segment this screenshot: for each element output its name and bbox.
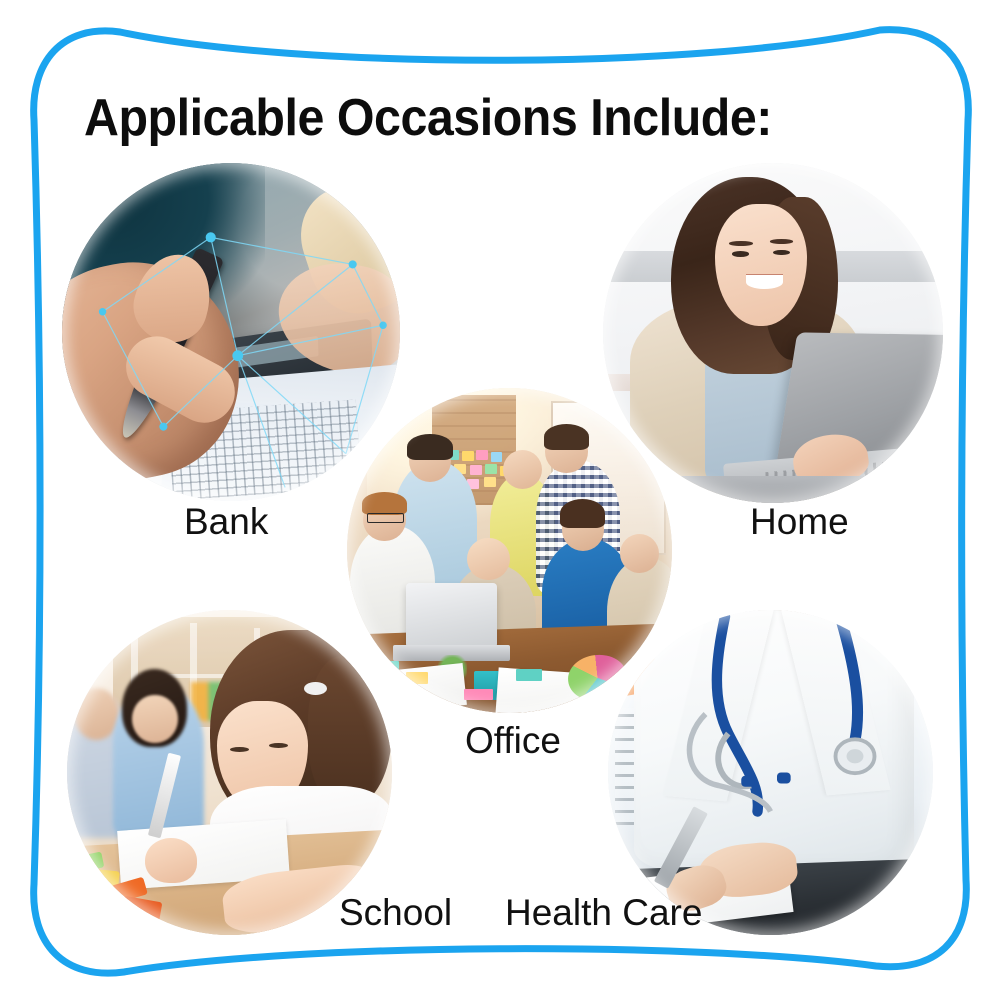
sticky-note-desk-4 [516, 669, 542, 680]
office-head-3 [503, 450, 542, 489]
occasion-label-school: School [339, 894, 452, 931]
office-hair-1 [407, 434, 453, 460]
occasion-photo-health-care [608, 610, 933, 935]
sticky-note-desk-2 [406, 672, 429, 683]
office-hair-2 [362, 492, 408, 515]
occasion-label-bank: Bank [184, 503, 268, 540]
office-head-7 [467, 538, 509, 580]
office-hair-4 [544, 424, 590, 450]
sticky-note-desk-3 [464, 689, 493, 700]
occasion-label-health-care: Health Care [505, 894, 702, 931]
occasion-label-home: Home [750, 503, 849, 540]
promo-graphic: Applicable Occasions Include: [0, 0, 1000, 1000]
hair-tie-icon [304, 682, 327, 695]
office-hair-5 [560, 499, 606, 528]
office-laptop-icon [406, 583, 497, 648]
office-head-6 [620, 534, 659, 573]
home-smile [746, 275, 783, 289]
occasion-label-office: Office [465, 722, 561, 759]
school-girl-ponytail [308, 656, 393, 806]
school-girl-eye [230, 747, 250, 752]
school-classmate-2-face [132, 695, 178, 744]
school-girl-hand [145, 838, 197, 884]
page-title: Applicable Occasions Include: [84, 92, 772, 144]
occasion-photo-school [67, 610, 392, 935]
school-classmate-1-head [74, 688, 120, 740]
glasses-icon [367, 513, 405, 523]
